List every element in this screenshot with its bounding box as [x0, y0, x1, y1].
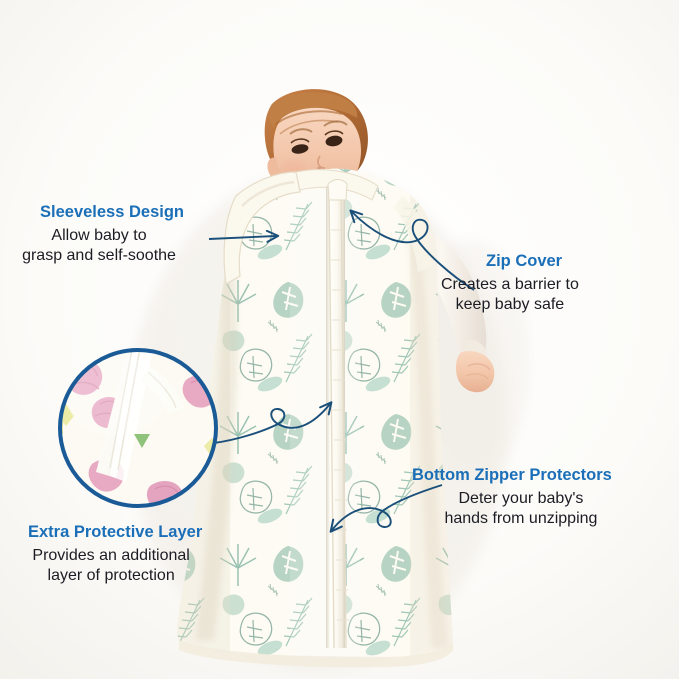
callout-extra-protective-layer: Extra Protective Layer Provides an addit… — [22, 523, 202, 585]
callout-sleeveless-design: Sleeveless Design Allow baby to grasp an… — [38, 203, 184, 265]
extra-protective-layer-detail-inset — [56, 346, 220, 510]
callout-body-line-2: hands from unzipping — [430, 509, 612, 529]
callout-body-line-1: Provides an additional — [20, 546, 202, 566]
callout-body-line-1: Deter your baby's — [430, 489, 612, 509]
callout-body-line-2: layer of protection — [20, 566, 202, 586]
callout-heading: Bottom Zipper Protectors — [412, 466, 612, 486]
callout-zip-cover: Zip Cover Creates a barrier to keep baby… — [443, 252, 579, 314]
callout-heading: Sleeveless Design — [40, 203, 184, 223]
infographic-canvas: Because the little things matter — [0, 0, 679, 679]
callout-body-line-2: keep baby safe — [441, 295, 579, 315]
callout-body-line-1: Creates a barrier to — [441, 275, 579, 295]
callout-heading: Extra Protective Layer — [28, 523, 202, 543]
callout-bottom-zipper-protectors: Bottom Zipper Protectors Deter your baby… — [408, 466, 612, 528]
callout-body-line-2: grasp and self-soothe — [14, 246, 184, 266]
callout-heading: Zip Cover — [486, 252, 579, 272]
callout-body-line-1: Allow baby to — [14, 226, 184, 246]
